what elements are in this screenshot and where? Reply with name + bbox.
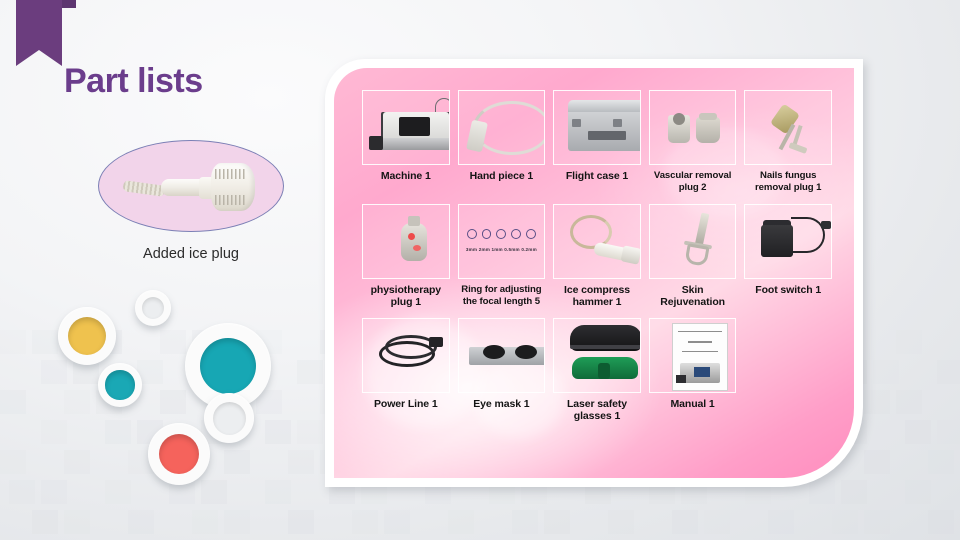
part-label-focal-rings: Ring for adjusting the focal length 5 [458,279,546,316]
background-tile [896,390,922,414]
part-item-hand-piece[interactable]: Hand piece 1 [458,90,546,202]
part-thumbnail-physiotherapy-plug[interactable] [362,204,450,279]
flightcase-icon [554,91,640,164]
part-thumbnail-power-line[interactable] [362,318,450,393]
ice-plug-caption: Added ice plug [100,246,282,262]
part-label-eye-mask: Eye mask 1 [458,393,546,418]
skinrejuv-icon [650,205,736,278]
part-thumbnail-ice-compress-hammer[interactable] [553,204,641,279]
machine-icon [363,91,449,164]
part-item-manual[interactable]: Manual 1 [649,318,737,430]
background-tile [128,510,154,534]
background-tile [192,510,218,534]
background-tile [937,420,960,444]
background-tile [224,510,250,534]
background-tile [544,510,570,534]
glasses-icon [554,319,640,392]
background-tile [288,510,314,534]
part-label-nails-fungus: Nails fungus removal plug 1 [744,165,832,202]
ice-plug-head-icon [211,163,255,211]
background-tile [704,510,730,534]
part-thumbnail-foot-switch[interactable] [744,204,832,279]
part-thumbnail-skin-rejuvenation[interactable] [649,204,737,279]
eyemask-icon [459,319,545,392]
part-item-laser-safety-glasses[interactable]: Laser safety glasses 1 [553,318,641,430]
background-tile [0,330,26,354]
circle-teal-small [98,363,142,407]
part-thumbnail-machine[interactable] [362,90,450,165]
background-tile [64,390,90,414]
background-tile [0,390,26,414]
circle-white-small [135,290,171,326]
physio-icon [363,205,449,278]
part-label-flight-case: Flight case 1 [553,165,641,190]
slide-canvas: Part lists Added ice plug Machine 1Hand … [0,0,960,540]
part-label-manual: Manual 1 [649,393,737,418]
background-tile [864,510,890,534]
part-thumbnail-flight-case[interactable] [553,90,641,165]
part-label-hand-piece: Hand piece 1 [458,165,546,190]
background-tile [873,360,899,384]
part-label-ice-compress-hammer: Ice compress hammer 1 [553,279,641,316]
background-tile [265,420,291,444]
part-item-ice-compress-hammer[interactable]: Ice compress hammer 1 [553,204,641,316]
background-tile [160,330,186,354]
part-item-power-line[interactable]: Power Line 1 [362,318,450,430]
background-tile [32,330,58,354]
part-thumbnail-laser-safety-glasses[interactable] [553,318,641,393]
background-tile [896,330,922,354]
circle-red [148,423,210,485]
footswitch-icon [745,205,831,278]
background-tile [864,390,890,414]
background-tile [41,480,67,504]
ice-plug-cable-icon [122,180,165,197]
ring-size-labels: 3mm 2mm 1mm 0.5mm 0.2mm [459,247,545,252]
handpiece-icon [459,91,545,164]
background-tile [608,510,634,534]
part-item-eye-mask[interactable]: Eye mask 1 [458,318,546,430]
background-tile [928,450,954,474]
part-thumbnail-vascular-removal[interactable] [649,90,737,165]
purple-ribbon-tab [62,0,76,8]
background-tile [32,510,58,534]
part-label-skin-rejuvenation: Skin Rejuvenation [649,279,737,316]
background-tile [864,450,890,474]
background-tile [224,450,250,474]
ice-plug-highlight-ellipse [98,140,284,232]
background-tile [105,480,131,504]
circle-yellow [58,307,116,365]
background-tile [265,480,291,504]
background-tile [201,480,227,504]
background-tile [297,360,323,384]
background-tile [64,450,90,474]
product-parts-panel: Machine 1Hand piece 1Flight case 1Vascul… [325,59,863,487]
part-item-nails-fungus[interactable]: Nails fungus removal plug 1 [744,90,832,202]
background-tile [9,480,35,504]
circle-white-ring [204,393,254,443]
background-tile [41,360,67,384]
purple-ribbon-decoration [16,0,62,50]
icehammer-icon [554,205,640,278]
vascular-icon [650,91,736,164]
part-item-machine[interactable]: Machine 1 [362,90,450,202]
parts-grid: Machine 1Hand piece 1Flight case 1Vascul… [362,90,832,430]
rings-icon: 3mm 2mm 1mm 0.5mm 0.2mm [459,205,545,278]
background-tile [160,390,186,414]
manual-icon [650,319,736,392]
part-item-vascular-removal[interactable]: Vascular removal plug 2 [649,90,737,202]
background-tile [288,450,314,474]
part-label-machine: Machine 1 [362,165,450,190]
nailsfungus-icon [745,91,831,164]
part-label-physiotherapy-plug: physiotherapy plug 1 [362,279,450,316]
background-tile [105,420,131,444]
background-tile [672,510,698,534]
part-thumbnail-focal-rings[interactable]: 3mm 2mm 1mm 0.5mm 0.2mm [458,204,546,279]
part-label-vascular-removal: Vascular removal plug 2 [649,165,737,202]
background-tile [937,360,960,384]
background-tile [905,480,931,504]
background-tile [41,420,67,444]
part-label-foot-switch: Foot switch 1 [744,279,832,304]
part-item-skin-rejuvenation[interactable]: Skin Rejuvenation [649,204,737,316]
page-title: Part lists [64,62,203,101]
background-tile [768,510,794,534]
background-tile [64,510,90,534]
part-item-flight-case[interactable]: Flight case 1 [553,90,641,202]
background-tile [809,480,835,504]
background-tile [832,510,858,534]
powerline-icon [363,319,449,392]
background-tile [448,510,474,534]
part-item-foot-switch[interactable]: Foot switch 1 [744,204,832,316]
background-tile [512,510,538,534]
part-item-focal-rings[interactable]: 3mm 2mm 1mm 0.5mm 0.2mmRing for adjustin… [458,204,546,316]
part-label-laser-safety-glasses: Laser safety glasses 1 [553,393,641,430]
background-tile [841,480,867,504]
part-label-power-line: Power Line 1 [362,393,450,418]
product-parts-panel-inner: Machine 1Hand piece 1Flight case 1Vascul… [334,68,854,478]
background-tile [0,450,26,474]
background-tile [384,510,410,534]
background-tile [297,420,323,444]
part-thumbnail-hand-piece[interactable] [458,90,546,165]
background-tile [905,420,931,444]
part-thumbnail-manual[interactable] [649,318,737,393]
background-tile [928,510,954,534]
background-tile [352,510,378,534]
part-thumbnail-eye-mask[interactable] [458,318,546,393]
part-item-physiotherapy-plug[interactable]: physiotherapy plug 1 [362,204,450,316]
part-thumbnail-nails-fungus[interactable] [744,90,832,165]
